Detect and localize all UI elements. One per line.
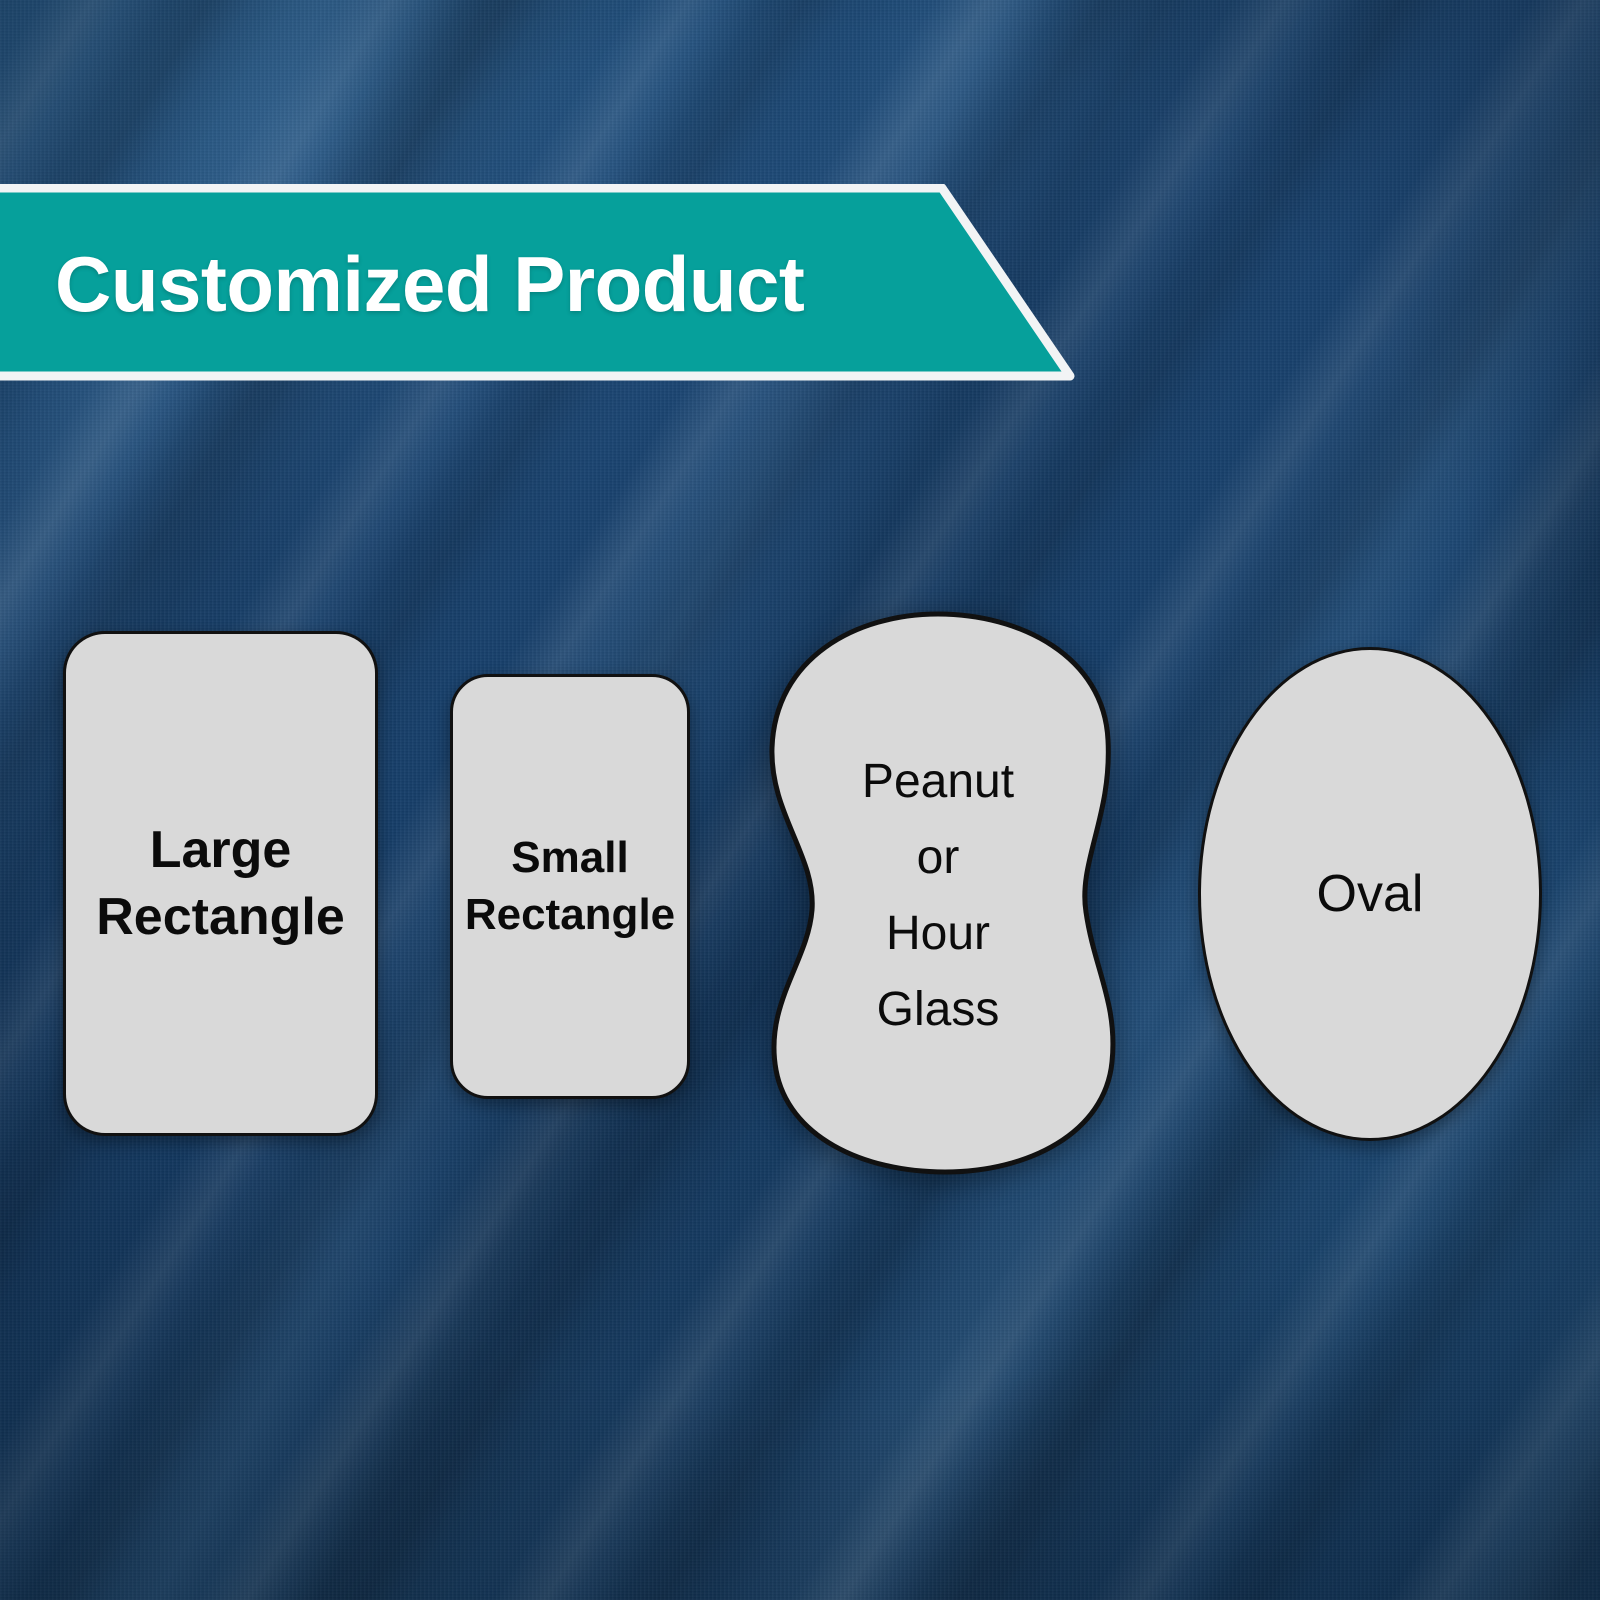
shape-peanut-label: Peanut or Hour Glass	[752, 600, 1124, 1186]
shape-peanut-label-line3: Hour	[886, 910, 990, 958]
shape-oval-label: Oval	[1307, 861, 1434, 928]
shape-large-rectangle-label: Large Rectangle	[86, 817, 355, 950]
shape-small-rectangle-label-line1: Small	[511, 833, 628, 882]
banner-title: Customized Product	[55, 184, 804, 384]
shape-small-rectangle-label-line2: Rectangle	[465, 890, 675, 939]
shape-oval[interactable]: Oval	[1198, 647, 1542, 1141]
shape-small-rectangle-label: Small Rectangle	[455, 830, 685, 943]
product-shape-infographic: Customized Product Large Rectangle Small…	[0, 0, 1600, 1600]
shape-large-rectangle-label-line1: Large	[150, 821, 292, 879]
banner: Customized Product	[0, 184, 1080, 384]
shape-peanut-label-line1: Peanut	[862, 758, 1014, 806]
shape-large-rectangle-label-line2: Rectangle	[96, 888, 345, 946]
shape-peanut-label-line4: Glass	[877, 986, 1000, 1034]
shape-peanut-label-line2: or	[917, 834, 960, 882]
shape-large-rectangle[interactable]: Large Rectangle	[63, 631, 378, 1136]
shape-small-rectangle[interactable]: Small Rectangle	[450, 674, 690, 1099]
shape-peanut-hourglass[interactable]: Peanut or Hour Glass	[752, 600, 1124, 1186]
